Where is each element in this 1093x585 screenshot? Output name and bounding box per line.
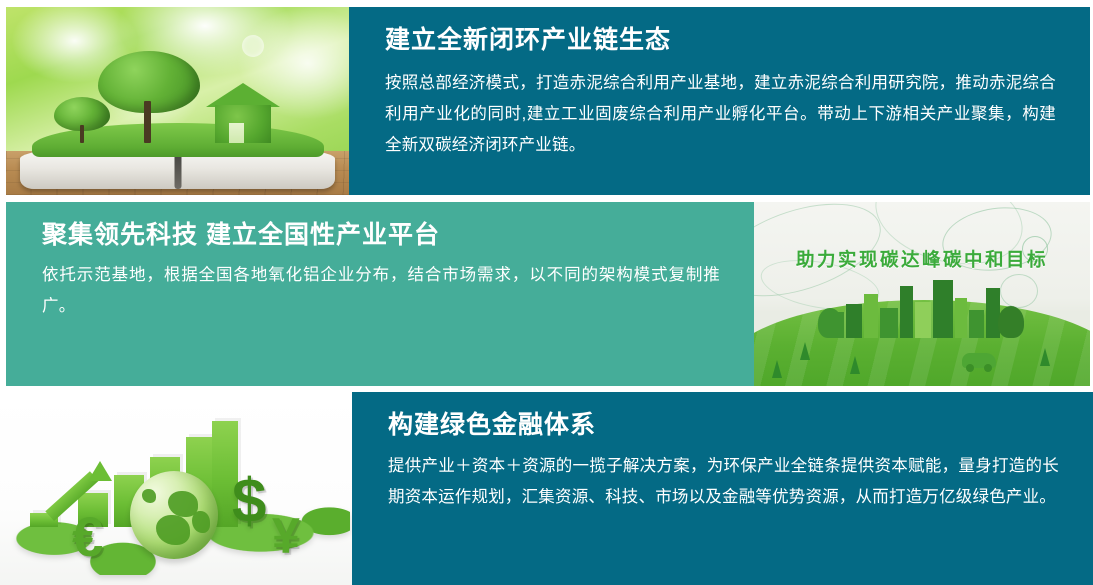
- building-silhouette: [880, 308, 898, 338]
- panel-3-body: 提供产业＋资本＋资源的一揽子解决方案，为环保产业全链条提供资本赋能，量身打造的长…: [388, 451, 1059, 513]
- infographic-page: 建立全新闭环产业链生态 按照总部经济模式，打造赤泥综合利用产业基地，建立赤泥综合…: [0, 0, 1093, 585]
- green-globe-icon: [130, 471, 218, 559]
- panel-closed-loop-industry-chain: 建立全新闭环产业链生态 按照总部经济模式，打造赤泥综合利用产业基地，建立赤泥综合…: [6, 7, 1090, 195]
- panel-1-body: 按照总部经济模式，打造赤泥综合利用产业基地，建立赤泥综合利用研究院，推动赤泥综合…: [385, 68, 1056, 161]
- building-silhouette: [846, 304, 862, 338]
- building-silhouette: [986, 288, 1000, 338]
- carbon-peak-neutrality-poster-image: 助力实现碳达峰碳中和目标: [754, 202, 1090, 386]
- globe-landmass: [192, 511, 210, 533]
- tree-silhouette: [998, 306, 1024, 338]
- euro-symbol-icon: €: [72, 509, 103, 565]
- poster-slogan: 助力实现碳达峰碳中和目标: [754, 246, 1090, 272]
- tree-silhouette: [818, 308, 842, 338]
- panel-1-text-block: 建立全新闭环产业链生态 按照总部经济模式，打造赤泥综合利用产业基地，建立赤泥综合…: [349, 7, 1090, 195]
- panel-3-title: 构建绿色金融体系: [388, 410, 1059, 441]
- green-finance-growth-chart-image: € $ ¥: [0, 392, 352, 585]
- bokeh-light-icon: [242, 35, 264, 57]
- house-roof: [206, 83, 280, 107]
- tree-trunk: [80, 125, 84, 143]
- panel-1-title: 建立全新闭环产业链生态: [385, 25, 1056, 56]
- tree-trunk: [144, 101, 151, 143]
- building-silhouette: [933, 280, 953, 338]
- panel-2-text-block: 聚集领先科技 建立全国性产业平台 依托示范基地，根据全国各地氧化铝企业分布，结合…: [6, 202, 754, 386]
- panel-green-finance-system: € $ ¥ 构建绿色金融体系 提供产业＋资本＋资源的一揽子解决方案，为环保产业全…: [0, 392, 1093, 585]
- globe-landmass: [156, 515, 190, 545]
- building-silhouette: [864, 294, 878, 338]
- panel-2-body: 依托示范基地，根据全国各地氧化铝企业分布，结合市场需求，以不同的架构模式复制推广…: [42, 260, 720, 322]
- panel-national-industry-platform: 聚集领先科技 建立全国性产业平台 依托示范基地，根据全国各地氧化铝企业分布，结合…: [6, 202, 1090, 386]
- dollar-symbol-icon: $: [232, 471, 266, 533]
- yen-symbol-icon: ¥: [272, 511, 300, 561]
- large-tree-icon: [98, 51, 200, 143]
- grass-house-icon: [206, 83, 280, 143]
- mini-tree-icon: [800, 342, 810, 360]
- building-silhouette: [955, 298, 967, 338]
- mini-tree-icon: [850, 356, 860, 374]
- building-silhouette: [969, 310, 984, 338]
- mini-tree-icon: [1040, 348, 1050, 366]
- building-silhouette: [915, 302, 931, 338]
- panel-3-text-block: 构建绿色金融体系 提供产业＋资本＋资源的一揽子解决方案，为环保产业全链条提供资本…: [352, 392, 1093, 585]
- mini-tree-icon: [772, 360, 782, 378]
- green-car-icon: [962, 353, 996, 368]
- building-silhouette: [900, 286, 913, 338]
- house-door: [229, 123, 244, 143]
- city-skyline-silhouette: [832, 274, 1012, 338]
- globe-landmass: [142, 489, 156, 503]
- open-book-green-landscape-image: [6, 7, 349, 195]
- panel-2-title: 聚集领先科技 建立全国性产业平台: [42, 220, 720, 251]
